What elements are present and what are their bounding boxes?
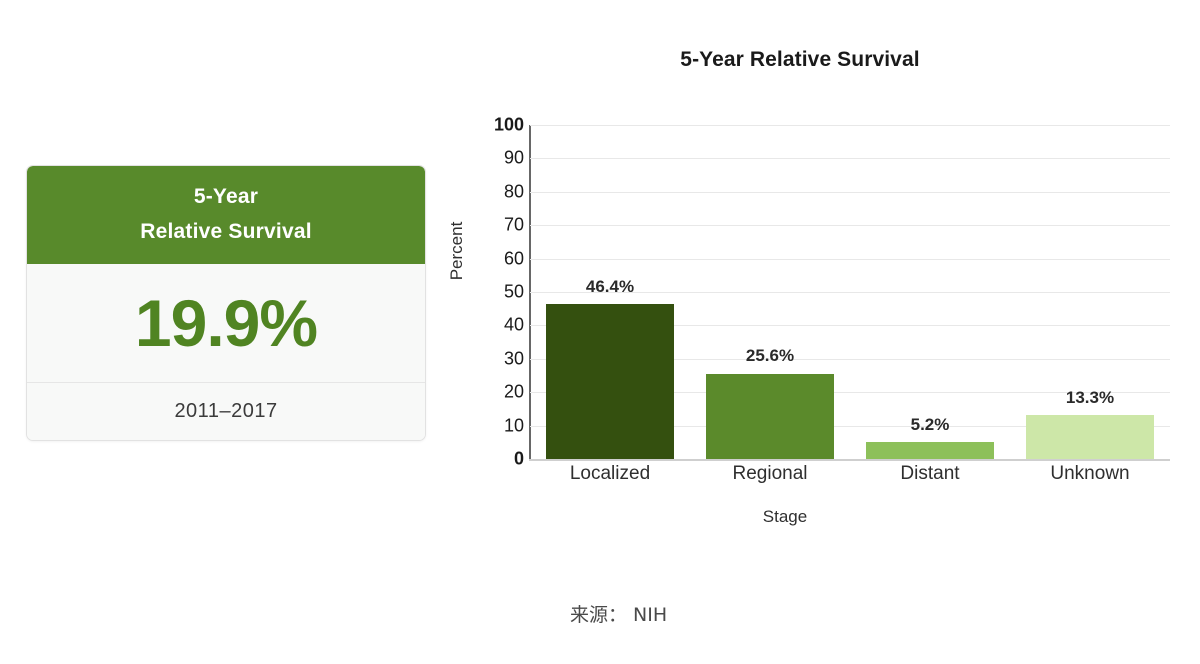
gridline [530, 125, 1170, 126]
y-tick-label: 100 [470, 115, 524, 136]
y-tick-label: 20 [470, 382, 524, 403]
y-tick-label: 0 [470, 449, 524, 470]
y-axis-ticks: 1009080706050403020100 [460, 125, 524, 459]
x-tick-label-localized: Localized [570, 463, 650, 485]
x-axis-title: Stage [715, 507, 855, 527]
gridline [530, 158, 1170, 159]
x-tick-label-distant: Distant [900, 463, 959, 485]
bar-regional[interactable] [706, 374, 834, 460]
x-tick-label-regional: Regional [733, 463, 808, 485]
chart-title: 5-Year Relative Survival [430, 48, 1170, 72]
gridline [530, 259, 1170, 260]
bar-value-label: 13.3% [1066, 388, 1114, 408]
source-note: 来源： NIH [570, 600, 667, 627]
y-tick-label: 60 [470, 248, 524, 269]
stat-value: 19.9% [135, 290, 317, 356]
y-tick-label: 30 [470, 348, 524, 369]
bar-value-label: 5.2% [911, 415, 950, 435]
y-tick-label: 40 [470, 315, 524, 336]
x-axis-line [529, 459, 1170, 461]
gridline [530, 192, 1170, 193]
bar-localized[interactable] [546, 304, 674, 459]
stat-card-period: 2011–2017 [174, 400, 277, 423]
y-tick-label: 10 [470, 415, 524, 436]
stat-card-footer: 2011–2017 [27, 383, 425, 440]
bar-value-label: 25.6% [746, 346, 794, 366]
y-tick-label: 70 [470, 215, 524, 236]
y-tick-label: 80 [470, 181, 524, 202]
bar-unknown[interactable] [1026, 415, 1154, 459]
stat-card-body: 19.9% [27, 264, 425, 383]
bar-distant[interactable] [866, 442, 994, 459]
y-tick-label: 50 [470, 282, 524, 303]
plot-area: 46.4%25.6%5.2%13.3% [530, 125, 1170, 459]
gridline [530, 225, 1170, 226]
y-tick-label: 90 [470, 148, 524, 169]
stat-card-header-line2: Relative Survival [140, 215, 312, 250]
stat-card-header-line1: 5-Year [194, 180, 258, 215]
x-tick-label-unknown: Unknown [1050, 463, 1129, 485]
chart-region: 5-Year Relative Survival Percent 1009080… [430, 0, 1200, 664]
stat-card-header: 5-Year Relative Survival [27, 166, 425, 264]
stat-card: 5-Year Relative Survival 19.9% 2011–2017 [26, 165, 426, 441]
bar-value-label: 46.4% [586, 277, 634, 297]
